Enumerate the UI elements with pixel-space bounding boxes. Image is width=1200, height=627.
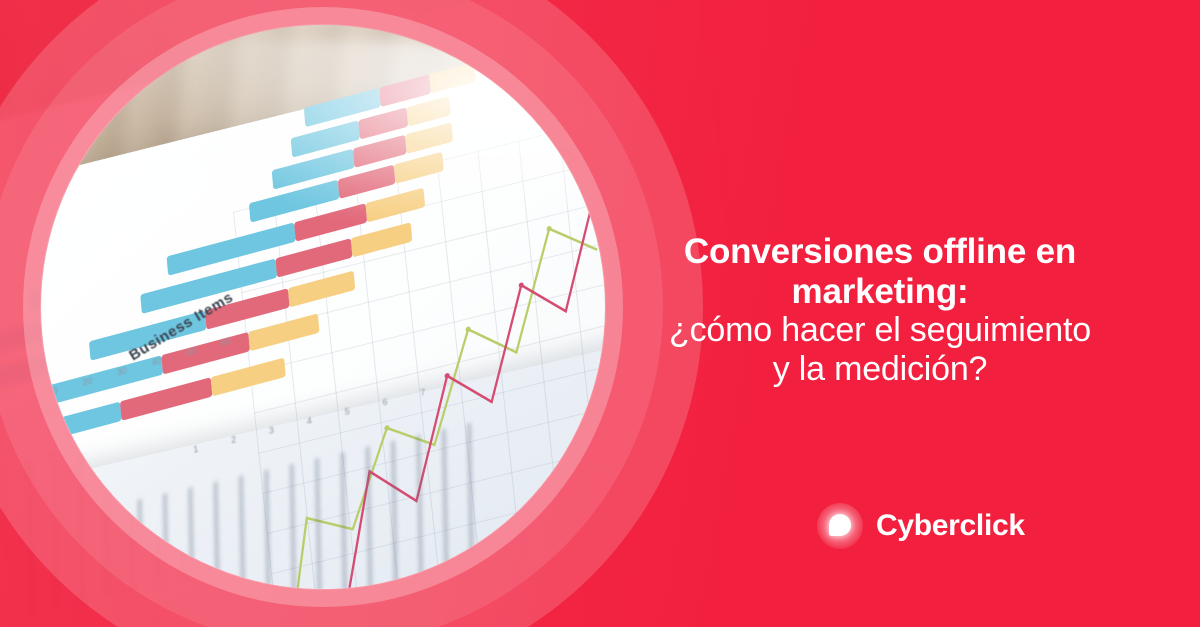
paper-highlight [150, 40, 605, 230]
title-line-2: marketing: [620, 272, 1140, 312]
photo-scene: 102030405060 1234567 Business Items Busi… [41, 25, 605, 589]
social-share-card: Business Items [0, 0, 1200, 627]
cyberclick-logo[interactable]: Cyberclick [817, 503, 1025, 549]
title-line-1: Conversiones offline en [620, 232, 1140, 272]
cyberclick-dot-icon [817, 503, 863, 549]
page-title: Conversiones offline en marketing: ¿cómo… [620, 232, 1140, 388]
logo-wordmark: Cyberclick [876, 511, 1025, 541]
logo-core-dot [829, 514, 851, 536]
circular-photo: 102030405060 1234567 Business Items Busi… [41, 25, 605, 589]
title-line-3: ¿cómo hacer el seguimiento [620, 311, 1140, 349]
title-line-4: y la medición? [620, 350, 1140, 388]
